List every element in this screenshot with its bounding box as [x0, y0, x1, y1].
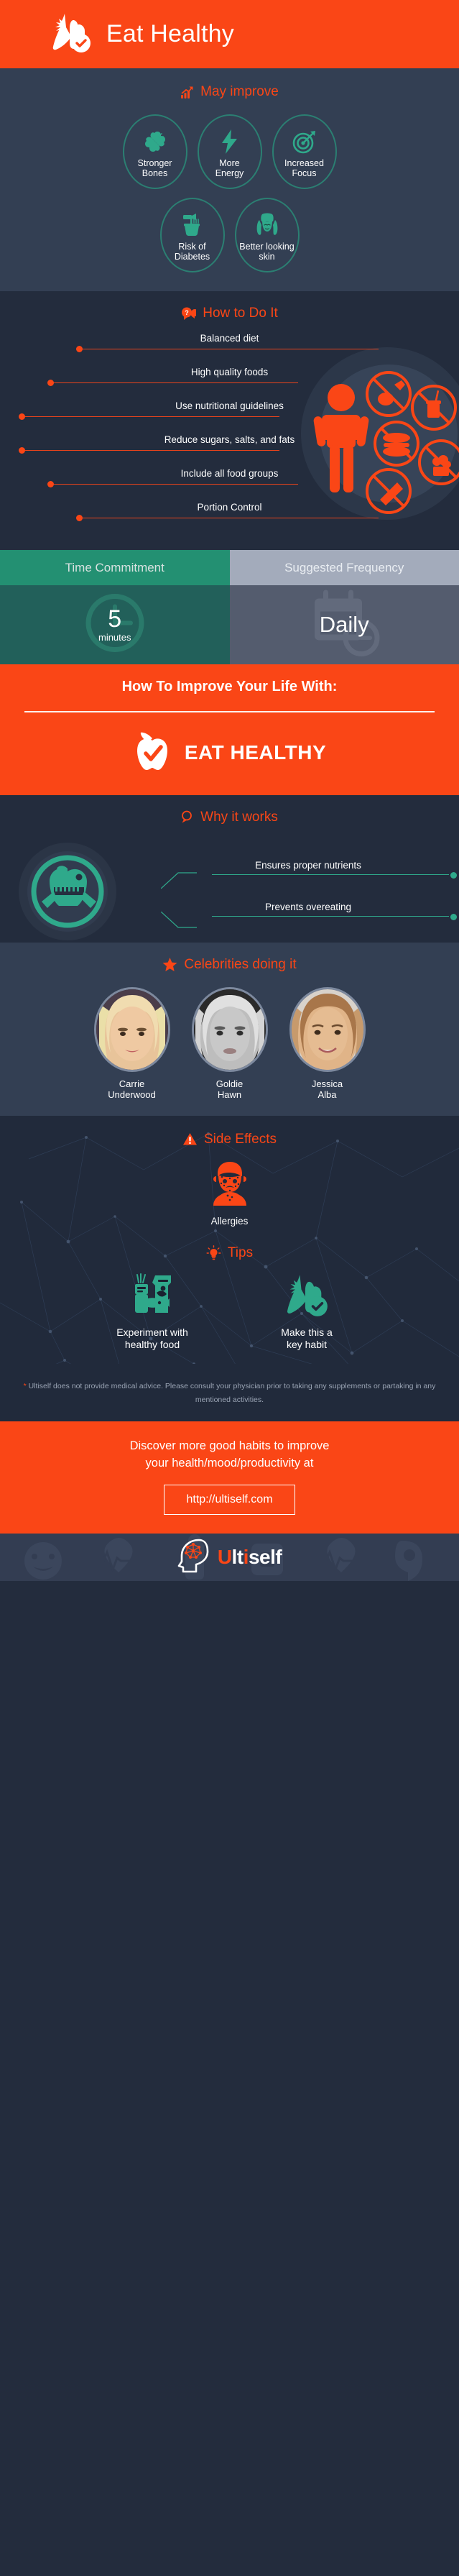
- celebrities-title-row: Celebrities doing it: [0, 957, 459, 973]
- how-to-item: Include all food groups: [0, 468, 459, 502]
- how-to-item: Balanced diet: [0, 333, 459, 367]
- how-to-rail: [50, 484, 298, 485]
- improve-life-band: How To Improve Your Life With: EAT HEALT…: [0, 664, 459, 795]
- avatar: [192, 987, 268, 1072]
- suggested-frequency-header: Suggested Frequency: [230, 550, 459, 585]
- how-to-item-label: Include all food groups: [0, 468, 459, 479]
- time-commitment-value-group: 5 minutes: [98, 607, 131, 643]
- question-bubble-icon: ?: [181, 307, 196, 321]
- facial-skincare-icon: [254, 212, 280, 238]
- how-to-item-label: Portion Control: [0, 502, 459, 513]
- how-to-dot: [47, 481, 54, 487]
- website-url-button[interactable]: http://ultiself.com: [164, 1485, 295, 1515]
- time-commitment-body: 5 minutes: [0, 585, 230, 664]
- how-to-list: Balanced diet High quality foods Use nut…: [0, 333, 459, 536]
- footer-cta: Discover more good habits to improve you…: [0, 1421, 459, 1534]
- why-it-works-section: Why it works: [0, 795, 459, 943]
- side-effects-title: Side Effects: [204, 1132, 277, 1147]
- svg-text:?: ?: [185, 309, 189, 316]
- disclaimer-text: Ultiself does not provide medical advice…: [27, 1382, 436, 1404]
- ultiself-wordmark: Ultiself: [218, 1546, 282, 1569]
- bar-chart-up-icon: [180, 86, 194, 99]
- side-effects-title-row: Side Effects: [0, 1132, 459, 1147]
- how-to-item: High quality foods: [0, 367, 459, 400]
- how-to-dot: [19, 447, 25, 454]
- why-dot: [450, 872, 457, 879]
- suggested-frequency-value: Daily: [320, 612, 369, 638]
- celebrities-section: Celebrities doing it: [0, 943, 459, 1116]
- suggested-frequency-value-group: Daily: [320, 612, 369, 638]
- how-to-rail: [22, 416, 279, 417]
- page-title: Eat Healthy: [106, 20, 234, 48]
- time-commitment-column: Time Commitment 5 minutes: [0, 550, 230, 664]
- may-improve-section: May improve Stronger B: [0, 68, 459, 291]
- how-to-dot: [76, 515, 83, 521]
- how-to-item: Portion Control: [0, 502, 459, 536]
- celebrity-card: Jessica Alba: [284, 987, 371, 1100]
- ultiself-logo: Ultiself: [177, 1537, 282, 1577]
- how-to-dot: [47, 380, 54, 386]
- how-to-rail: [22, 450, 279, 451]
- how-to-item-label: Reduce sugars, salts, and fats: [0, 434, 459, 445]
- why-item: Prevents overeating: [179, 902, 459, 917]
- warning-triangle-icon: [182, 1132, 198, 1146]
- how-to-item: Reduce sugars, salts, and fats: [0, 434, 459, 468]
- why-rail: [212, 916, 449, 917]
- footer-cta-line1: Discover more good habits to improve: [19, 1437, 440, 1454]
- celebrity-card: Goldie Hawn: [187, 987, 273, 1100]
- side-effect-label: Allergies: [0, 1216, 459, 1227]
- tips-row: Experiment with healthy food: [0, 1273, 459, 1364]
- brand-name: EAT HEALTHY: [185, 741, 326, 764]
- how-to-item-label: Balanced diet: [0, 333, 459, 344]
- disclaimer: * Ultiself does not provide medical advi…: [0, 1364, 459, 1421]
- groceries-icon: [126, 1308, 178, 1320]
- celebrity-name: Jessica Alba: [284, 1078, 371, 1100]
- how-to-dot: [19, 413, 25, 420]
- rash-face-icon: [208, 1198, 252, 1211]
- why-title-row: Why it works: [0, 810, 459, 825]
- logo-i: i: [244, 1546, 249, 1568]
- benefit-increased-focus: Increased Focus: [272, 114, 337, 189]
- target-arrow-icon: [292, 129, 317, 155]
- may-improve-row-1: Stronger Bones More Energy: [0, 114, 459, 189]
- may-improve-title-row: May improve: [0, 84, 459, 100]
- tip-card: Make this a key habit: [244, 1273, 370, 1351]
- benefit-label: Better looking skin: [239, 242, 294, 262]
- tips-title: Tips: [228, 1245, 253, 1261]
- how-to-rail: [79, 349, 379, 349]
- lightning-bolt-icon: [221, 129, 239, 155]
- brand-lockup: EAT HEALTHY: [0, 730, 459, 776]
- magnifier-icon: [181, 810, 194, 824]
- suggested-frequency-body: Daily: [230, 585, 459, 664]
- celebrity-name: Goldie Hawn: [187, 1078, 273, 1100]
- side-effects-tips-content: Side Effects: [0, 1132, 459, 1364]
- footer-cta-line2: your health/mood/productivity at: [19, 1454, 440, 1472]
- tips-title-row: Tips: [0, 1245, 459, 1261]
- commitment-frequency-panel: Time Commitment 5 minutes Suggested Freq…: [0, 550, 459, 664]
- why-rail: [212, 874, 449, 875]
- apple-check-icon: [133, 730, 172, 776]
- brain-head-icon: [177, 1537, 212, 1577]
- page-header: Eat Healthy: [0, 0, 459, 68]
- glucose-meter-icon: [180, 212, 205, 238]
- time-commitment-unit: minutes: [98, 632, 131, 643]
- star-icon: [162, 958, 177, 972]
- apple-measuring-tape-icon: [16, 840, 131, 944]
- logo-lt: lt: [232, 1546, 244, 1568]
- benefit-label: Increased Focus: [284, 158, 324, 178]
- why-item-label: Ensures proper nutrients: [179, 860, 459, 871]
- tip-card: Experiment with healthy food: [90, 1273, 215, 1351]
- benefit-label: Risk of Diabetes: [175, 242, 210, 262]
- carrot-pepper-check-icon: [283, 1308, 330, 1320]
- carrot-pepper-check-icon: [52, 12, 91, 57]
- how-to-rail: [50, 382, 298, 383]
- benefit-label: Stronger Bones: [138, 158, 172, 178]
- bone-icon: [143, 129, 167, 155]
- how-to-dot: [76, 346, 83, 352]
- benefit-better-looking-skin: Better looking skin: [235, 198, 300, 272]
- how-to-title: How to Do It: [203, 306, 278, 321]
- why-elbow-2: [161, 912, 197, 930]
- time-commitment-header: Time Commitment: [0, 550, 230, 585]
- avatar: [94, 987, 170, 1072]
- benefit-stronger-bones: Stronger Bones: [123, 114, 187, 189]
- celebrities-title: Celebrities doing it: [184, 957, 296, 973]
- benefit-risk-of-diabetes: Risk of Diabetes: [160, 198, 225, 272]
- tip-label: Make this a key habit: [244, 1326, 370, 1351]
- why-title: Why it works: [200, 810, 278, 825]
- improve-life-headline: How To Improve Your Life With:: [0, 679, 459, 695]
- celebrities-row: Carrie Underwood: [0, 987, 459, 1100]
- why-item-label: Prevents overeating: [179, 902, 459, 912]
- how-to-section: ? How to Do It: [0, 291, 459, 550]
- infographic-page: Eat Healthy May improve: [0, 0, 459, 1581]
- why-elbow-1: [161, 870, 197, 889]
- avatar: [289, 987, 366, 1072]
- lightbulb-icon: [206, 1245, 221, 1260]
- how-to-item-label: High quality foods: [0, 367, 459, 377]
- how-to-rail: [79, 518, 379, 518]
- side-effect-allergies: Allergies: [0, 1160, 459, 1227]
- time-commitment-value: 5: [98, 607, 131, 631]
- suggested-frequency-column: Suggested Frequency: [230, 550, 459, 664]
- logo-u: U: [218, 1546, 232, 1568]
- benefit-label: More Energy: [215, 158, 244, 178]
- why-dot: [450, 914, 457, 920]
- footer-logo-bar: Ultiself: [0, 1534, 459, 1581]
- how-to-item-label: Use nutritional guidelines: [0, 400, 459, 411]
- celebrity-name: Carrie Underwood: [89, 1078, 175, 1100]
- logo-self: self: [249, 1546, 282, 1568]
- may-improve-title: May improve: [200, 84, 279, 100]
- why-item: Ensures proper nutrients: [179, 860, 459, 875]
- side-effects-tips-section: Side Effects: [0, 1116, 459, 1364]
- how-to-title-row: ? How to Do It: [0, 306, 459, 321]
- tip-label: Experiment with healthy food: [90, 1326, 215, 1351]
- benefit-more-energy: More Energy: [198, 114, 262, 189]
- divider-rule: [24, 711, 435, 712]
- how-to-item: Use nutritional guidelines: [0, 400, 459, 434]
- celebrity-card: Carrie Underwood: [89, 987, 175, 1100]
- may-improve-row-2: Risk of Diabetes: [0, 198, 459, 272]
